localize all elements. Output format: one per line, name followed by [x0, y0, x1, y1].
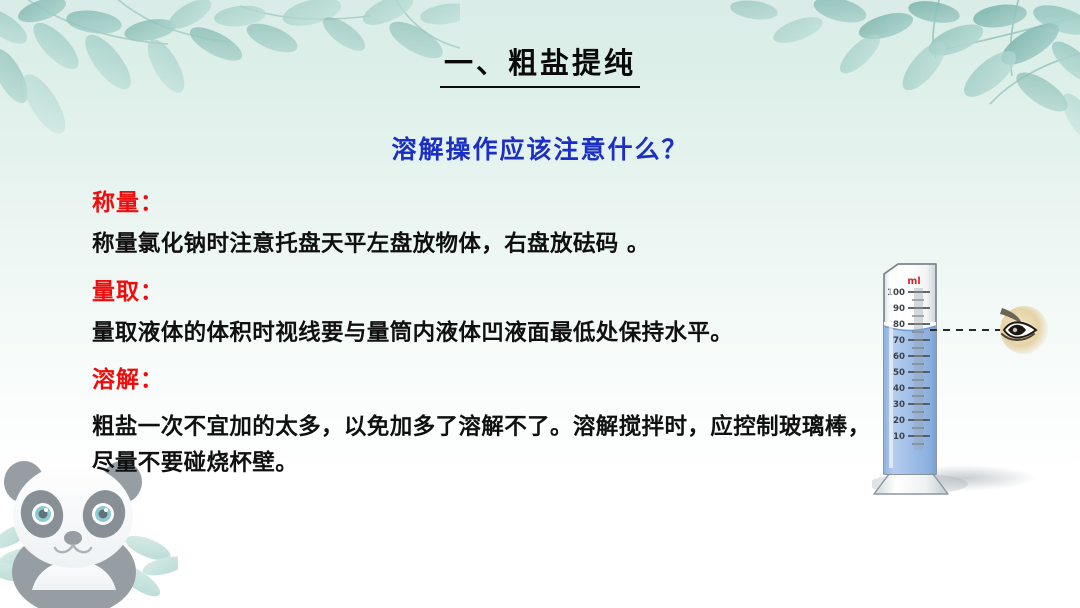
eye-icon — [1000, 306, 1048, 354]
leaf-decoration-left — [0, 0, 460, 214]
tick-60: 60 — [893, 352, 905, 362]
section-weighing: 称量： 称量氯化钠时注意托盘天平左盘放物体，右盘放砝码 。 — [92, 190, 882, 260]
tick-10: 10 — [893, 432, 905, 442]
section-text-weighing: 称量氯化钠时注意托盘天平左盘放物体，右盘放砝码 。 — [92, 229, 882, 259]
section-text-measuring: 量取液体的体积时视线要与量筒内液体凹液面最低处保持水平。 — [92, 318, 882, 348]
slide-subtitle-container: 溶解操作应该注意什么？ — [0, 130, 1080, 166]
slide-title-container: 一、粗盐提纯 — [0, 48, 1080, 88]
leaf-decoration-right — [690, 0, 1080, 214]
graduated-cylinder-figure: ml — [872, 262, 1080, 518]
slide-subtitle: 溶解操作应该注意什么？ — [391, 130, 688, 166]
tick-30: 30 — [893, 400, 905, 410]
section-measuring: 量取： 量取液体的体积时视线要与量筒内液体凹液面最低处保持水平。 — [92, 279, 882, 349]
section-dissolving: 溶解： 粗盐一次不宜加的太多，以免加多了溶解不了。溶解搅拌时，应控制玻璃棒，尽量… — [92, 367, 882, 481]
tick-50: 50 — [893, 368, 905, 378]
tick-20: 20 — [893, 416, 905, 426]
page-title: 一、粗盐提纯 — [440, 48, 640, 88]
unit-label-ml: ml — [907, 276, 920, 287]
tick-70: 70 — [893, 336, 905, 346]
content-body: 称量： 称量氯化钠时注意托盘天平左盘放物体，右盘放砝码 。 量取： 量取液体的体… — [92, 190, 882, 481]
section-text-dissolving: 粗盐一次不宜加的太多，以免加多了溶解不了。溶解搅拌时，应控制玻璃棒，尽量不要碰烧… — [92, 409, 882, 482]
tick-80: 80 — [893, 320, 905, 330]
tick-90: 90 — [893, 304, 905, 314]
section-heading-measuring: 量取： — [92, 279, 882, 305]
tick-40: 40 — [893, 384, 905, 394]
section-heading-dissolving: 溶解： — [92, 367, 882, 393]
section-heading-weighing: 称量： — [92, 190, 882, 216]
